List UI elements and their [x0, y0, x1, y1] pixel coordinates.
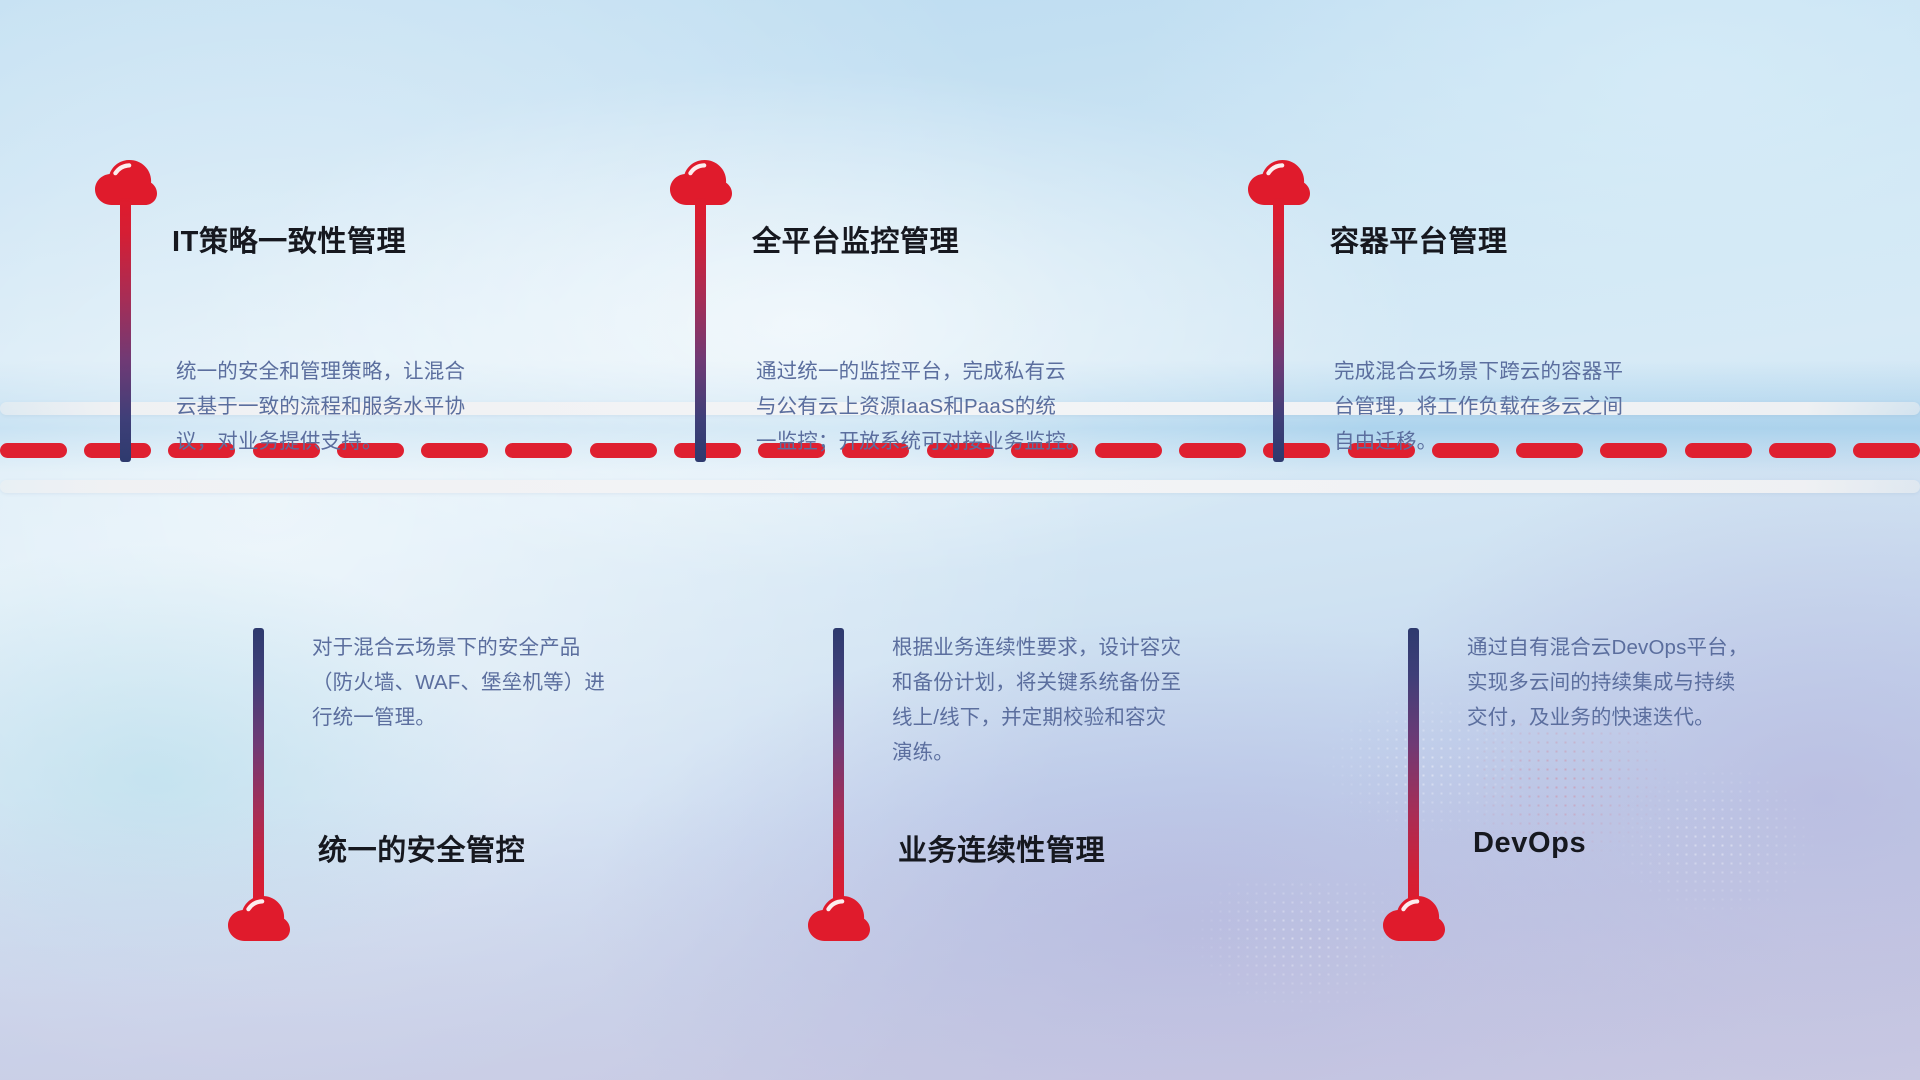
feature-title: 容器平台管理	[1330, 218, 1508, 260]
cloud-icon	[1383, 896, 1445, 942]
infographic-canvas: IT策略一致性管理 统一的安全和管理策略，让混合 云基于一致的流程和服务水平协 …	[0, 0, 1920, 1080]
divider-rail-bottom	[0, 480, 1920, 493]
feature-title: 统一的安全管控	[318, 827, 525, 869]
road-dash-segment	[0, 443, 67, 458]
cloud-icon	[228, 896, 290, 942]
feature-description: 对于混合云场景下的安全产品 （防火墙、WAF、堡垒机等）进 行统一管理。	[312, 630, 732, 735]
feature-title: 业务连续性管理	[898, 827, 1105, 869]
feature-description: 根据业务连续性要求，设计容灾 和备份计划，将关键系统备份至 线上/线下，并定期校…	[892, 630, 1322, 770]
connector-stem	[833, 628, 844, 918]
road-dash-segment	[1853, 443, 1920, 458]
feature-title: IT策略一致性管理	[172, 218, 406, 260]
feature-title: DevOps	[1473, 827, 1586, 860]
road-dash-segment	[674, 443, 741, 458]
feature-description: 通过自有混合云DevOps平台， 实现多云间的持续集成与持续 交付，及业务的快速…	[1467, 630, 1897, 735]
connector-stem	[1408, 628, 1419, 918]
feature-description: 统一的安全和管理策略，让混合 云基于一致的流程和服务水平协 议，对业务提供支持。	[176, 354, 606, 459]
connector-stem	[120, 196, 131, 462]
road-dash-segment	[84, 443, 151, 458]
feature-description: 通过统一的监控平台，完成私有云 与公有云上资源IaaS和PaaS的统 一监控；开…	[756, 354, 1206, 459]
road-dash-segment	[1769, 443, 1836, 458]
connector-stem	[695, 196, 706, 462]
cloud-icon	[808, 896, 870, 942]
feature-description: 完成混合云场景下跨云的容器平 台管理，将工作负载在多云之间 自由迁移。	[1334, 354, 1774, 459]
feature-title: 全平台监控管理	[752, 218, 959, 260]
connector-stem	[253, 628, 264, 918]
connector-stem	[1273, 196, 1284, 462]
